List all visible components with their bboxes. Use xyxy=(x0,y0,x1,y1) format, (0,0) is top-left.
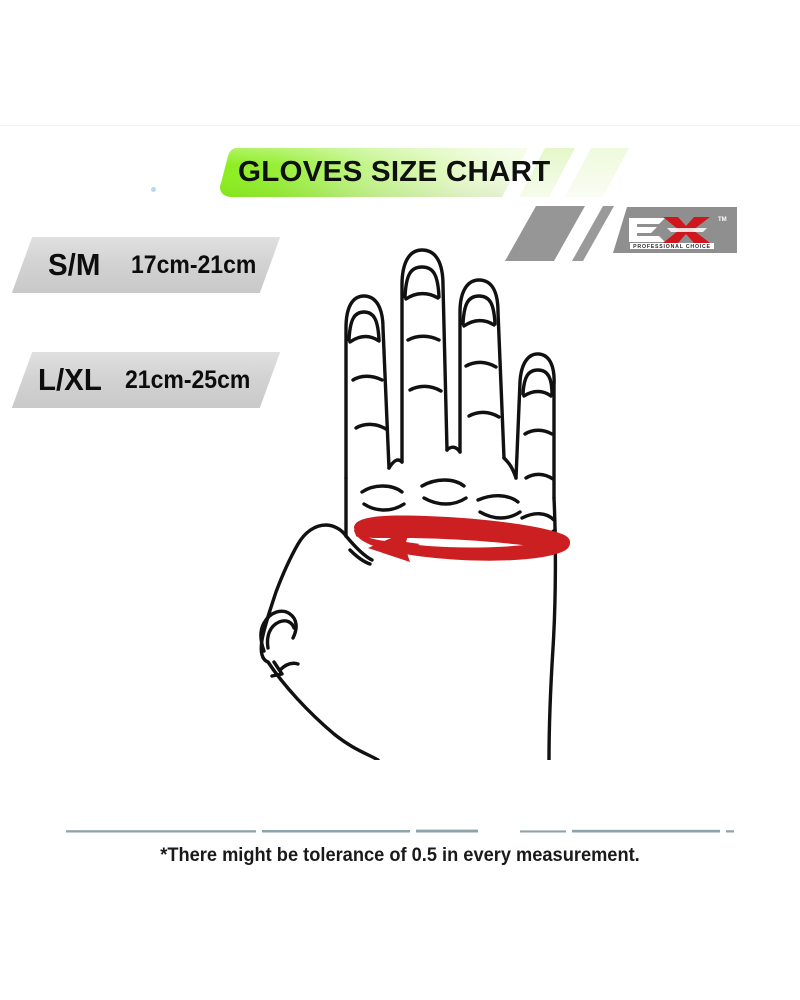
size-row: S/M 17cm-21cm xyxy=(22,237,270,293)
size-range-label: 21cm-25cm xyxy=(125,366,250,395)
gloves-size-chart-page: GLOVES SIZE CHART PROFESSIONAL CHOICE TM… xyxy=(0,0,800,1000)
footer-divider xyxy=(66,828,734,834)
size-code-label: L/XL xyxy=(38,362,102,398)
tolerance-note: *There might be tolerance of 0.5 in ever… xyxy=(16,845,784,867)
size-code-label: S/M xyxy=(48,247,100,283)
page-title: GLOVES SIZE CHART xyxy=(238,156,550,189)
size-row: L/XL 21cm-25cm xyxy=(22,352,270,408)
hand-diagram xyxy=(250,200,650,760)
trademark-icon: TM xyxy=(718,217,727,223)
size-range-label: 17cm-21cm xyxy=(131,251,256,280)
